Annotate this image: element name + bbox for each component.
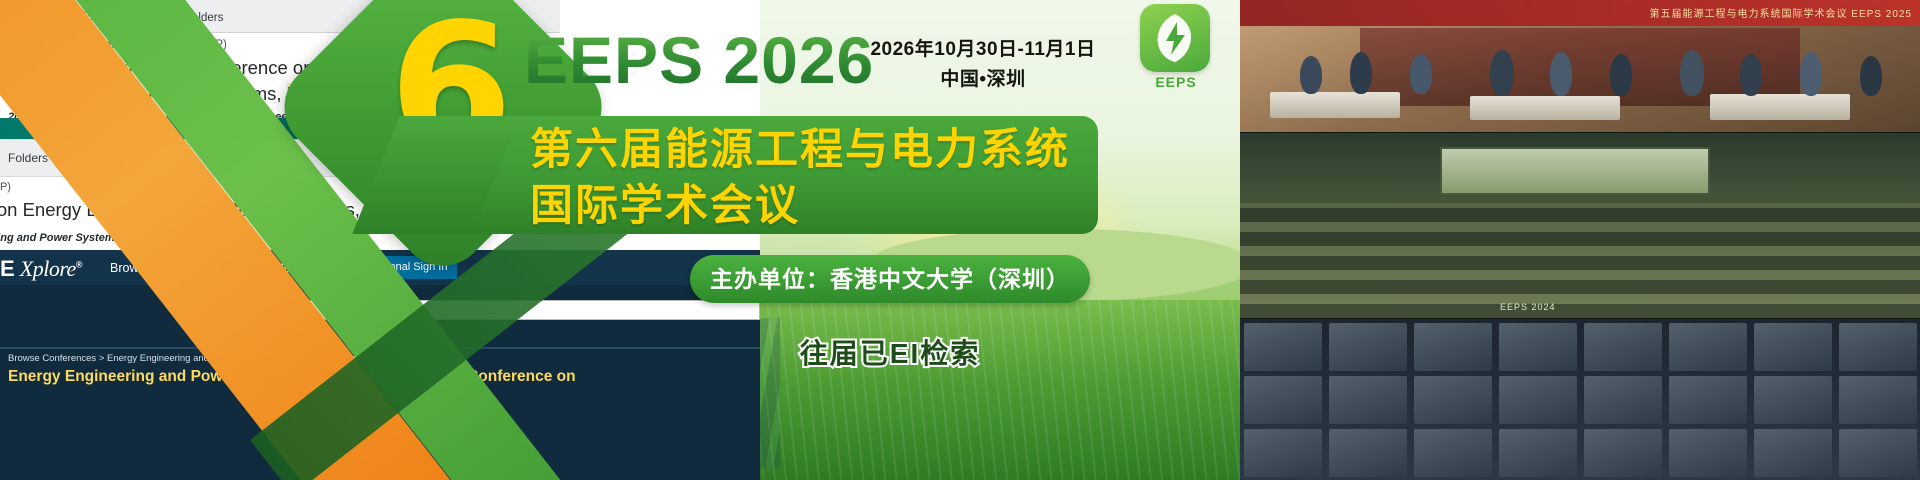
photo-1-person — [1550, 52, 1572, 96]
photo-1-person — [1740, 54, 1762, 96]
video-tile — [1414, 429, 1492, 477]
photo-2-audience-rows — [1240, 203, 1920, 318]
video-tile — [1839, 376, 1917, 424]
photo-1-table — [1270, 92, 1400, 118]
photo-2-screen — [1440, 147, 1710, 195]
photo-1-table — [1710, 94, 1850, 120]
photo-1-person — [1610, 54, 1632, 96]
video-tile — [1839, 323, 1917, 371]
photo-1-person — [1680, 50, 1704, 96]
leaf-bolt-icon — [1152, 12, 1198, 64]
conference-date: 2026年10月30日-11月1日 — [868, 34, 1098, 61]
video-tile — [1839, 429, 1917, 477]
video-tile — [1329, 376, 1407, 424]
ei-indexing-note: 往届已EI检索 — [760, 332, 1020, 372]
ev-record-2-type: CP) — [0, 181, 11, 193]
photo-1-person — [1800, 52, 1822, 96]
ieee-wordmark: IEEE — [0, 256, 14, 281]
ieee-xplore-logo[interactable]: IEEE Xplore® — [0, 256, 82, 282]
photo-group-3 — [1240, 319, 1920, 480]
photo-1-person — [1860, 56, 1882, 96]
registered-mark: ® — [76, 260, 82, 270]
photo-collage: 第五届能源工程与电力系统国际学术会议 EEPS 2025 EEPS 2024 — [1240, 0, 1920, 480]
video-tile — [1669, 323, 1747, 371]
video-tile — [1329, 429, 1407, 477]
photo-1-person — [1410, 54, 1432, 94]
video-tile — [1584, 376, 1662, 424]
page-title: EEPS 2026 — [524, 20, 874, 100]
video-tile — [1669, 376, 1747, 424]
ev-folders-label: Folders — [8, 151, 48, 165]
video-tile — [1754, 376, 1832, 424]
photo-1-table — [1470, 96, 1620, 120]
video-tile — [1414, 323, 1492, 371]
video-tile — [1329, 323, 1407, 371]
chinese-title-line-2: 国际学术会议 — [530, 180, 800, 232]
video-tile — [1754, 429, 1832, 477]
photo-group-2: EEPS 2024 — [1240, 133, 1920, 318]
conference-banner: ⤓Export ⎙Print ❞Cite 🗀Folders Compendex … — [0, 0, 1920, 480]
photo-1-person — [1300, 56, 1322, 94]
video-tile — [1499, 323, 1577, 371]
photo-1-banner: 第五届能源工程与电力系统国际学术会议 EEPS 2025 — [1240, 0, 1920, 26]
video-tile — [1244, 429, 1322, 477]
video-tile — [1499, 376, 1577, 424]
eeps-logo-text: EEPS — [1136, 74, 1216, 90]
conference-place: 中国•深圳 — [868, 64, 1098, 91]
video-tile — [1244, 376, 1322, 424]
photo-1-person — [1490, 50, 1514, 96]
chinese-title-line-1: 第六届能源工程与电力系统 — [530, 124, 1070, 176]
video-tile — [1244, 323, 1322, 371]
xplore-wordmark: Xplore — [20, 256, 76, 281]
photo-group-1: 第五届能源工程与电力系统国际学术会议 EEPS 2025 — [1240, 0, 1920, 132]
video-tile — [1754, 323, 1832, 371]
photo-1-banner-text: 第五届能源工程与电力系统国际学术会议 EEPS 2025 — [1650, 5, 1912, 20]
photo-2-tag: EEPS 2024 — [1500, 302, 1556, 312]
video-tile — [1584, 323, 1662, 371]
organizer-text: 主办单位：香港中文大学（深圳） — [690, 255, 1090, 303]
photo-1-person — [1350, 52, 1372, 94]
video-tile — [1584, 429, 1662, 477]
video-tile — [1499, 429, 1577, 477]
video-tile — [1414, 376, 1492, 424]
video-tile — [1669, 429, 1747, 477]
